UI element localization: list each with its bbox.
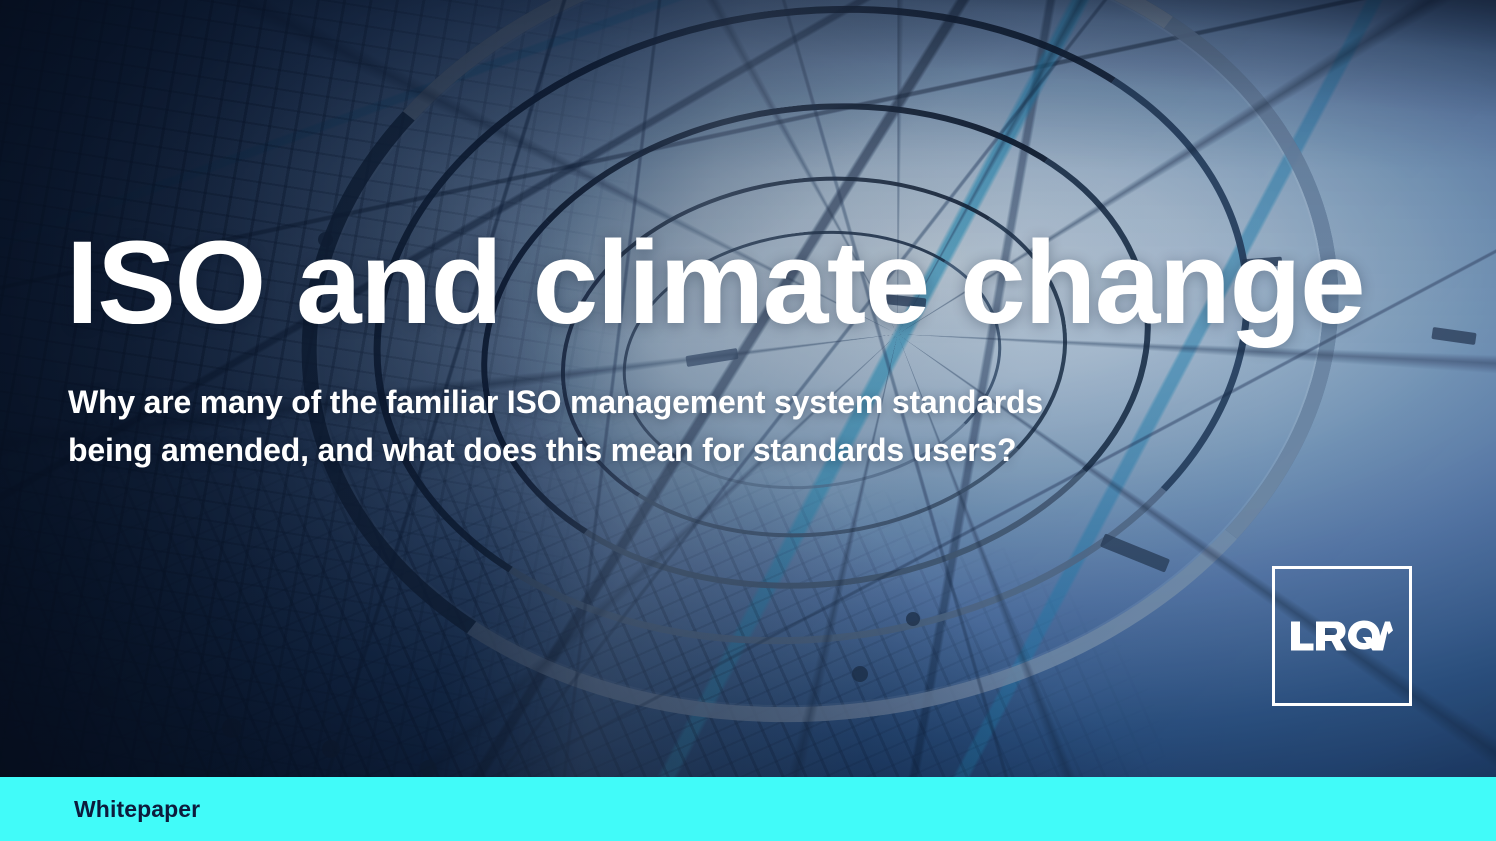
lrqa-logo	[1272, 566, 1412, 706]
whitepaper-cover-page: ISO and climate change Why are many of t…	[0, 0, 1496, 841]
page-subtitle-line-1: Why are many of the familiar ISO managem…	[68, 378, 1338, 426]
page-subtitle-line-2: being amended, and what does this mean f…	[68, 426, 1338, 474]
page-subtitle: Why are many of the familiar ISO managem…	[68, 378, 1338, 474]
document-type-label: Whitepaper	[74, 796, 200, 823]
page-title: ISO and climate change	[66, 222, 1364, 346]
lrqa-logo-icon	[1290, 619, 1394, 653]
footer-bar: Whitepaper	[0, 777, 1496, 841]
